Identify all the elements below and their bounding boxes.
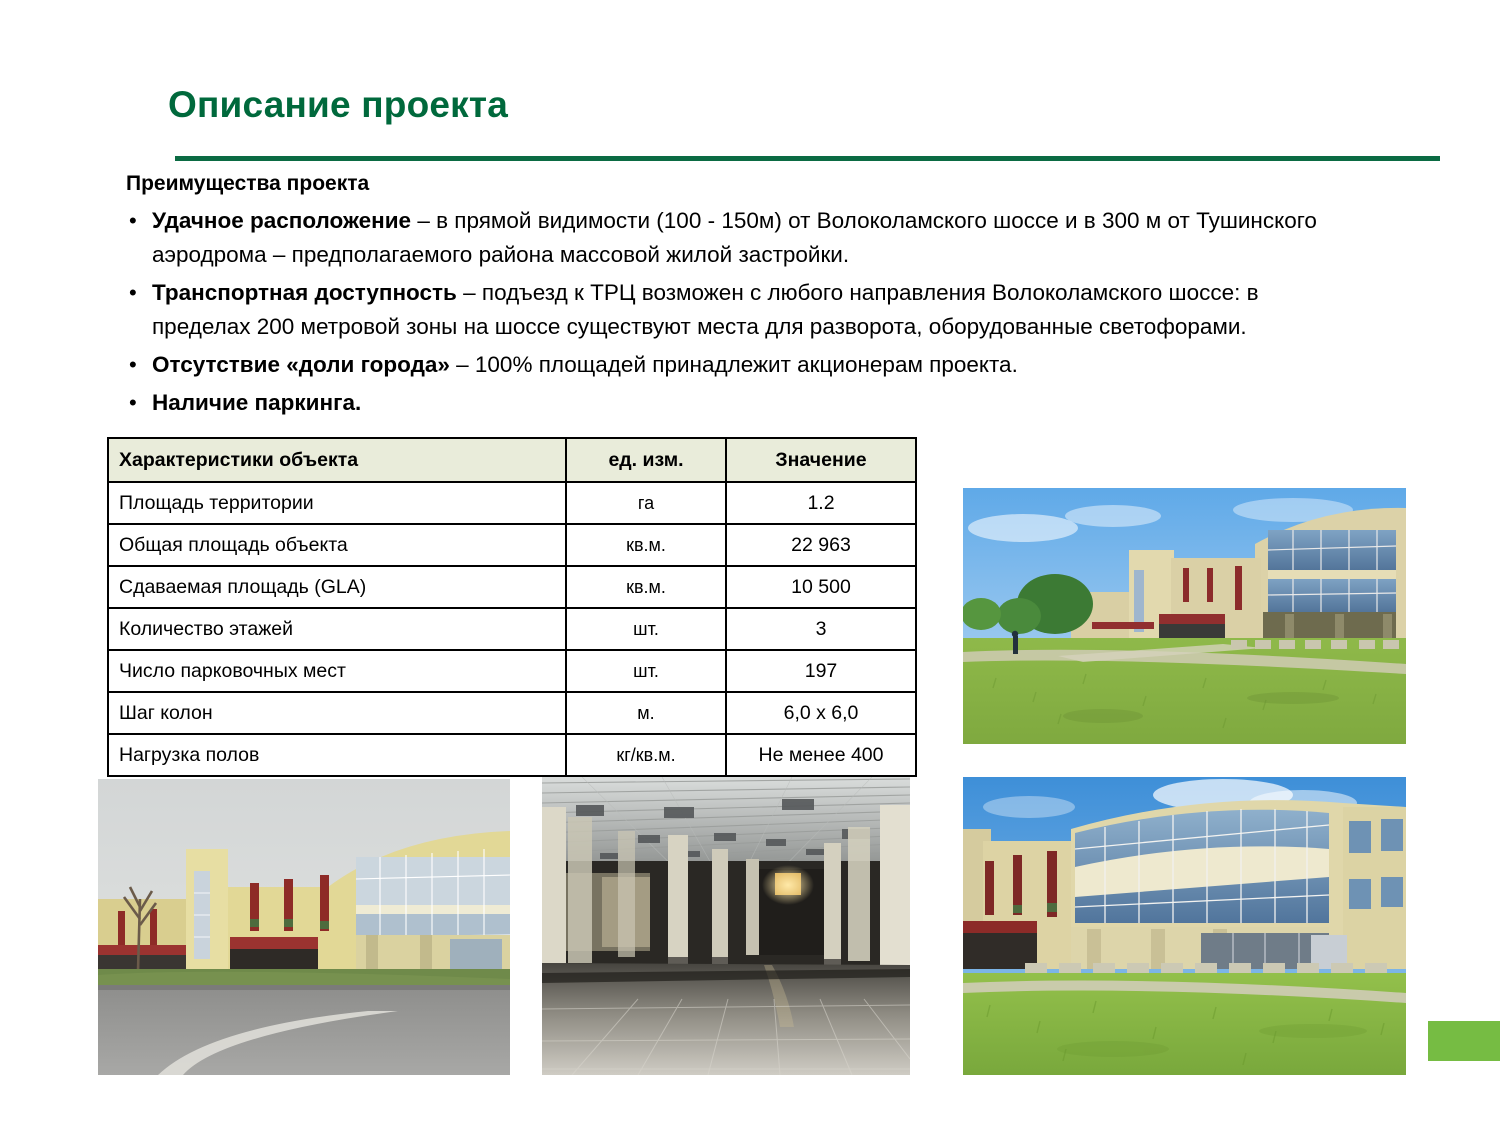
- list-item-text: Транспортная доступность – подъезд к ТРЦ…: [152, 276, 1341, 344]
- bullet-marker-icon: •: [126, 276, 152, 310]
- list-item: • Наличие паркинга.: [126, 386, 1341, 420]
- photo-interior-hall: [542, 777, 910, 1075]
- column-header-value: Значение: [726, 438, 916, 482]
- bullet-marker-icon: •: [126, 204, 152, 238]
- cell-value: 1.2: [726, 482, 916, 524]
- cell-value: 6,0 х 6,0: [726, 692, 916, 734]
- list-item-label: Наличие паркинга.: [152, 390, 361, 415]
- list-item-text: Наличие паркинга.: [152, 386, 1341, 420]
- advantages-list: • Удачное расположение – в прямой видимо…: [126, 204, 1341, 424]
- cell-name: Площадь территории: [108, 482, 566, 524]
- table-row: Шаг колон м. 6,0 х 6,0: [108, 692, 916, 734]
- photo-exterior-bottom-right: [963, 777, 1406, 1075]
- cell-value: 10 500: [726, 566, 916, 608]
- table-row: Общая площадь объекта кв.м. 22 963: [108, 524, 916, 566]
- list-item: • Удачное расположение – в прямой видимо…: [126, 204, 1341, 272]
- cell-unit: шт.: [566, 650, 726, 692]
- cell-name: Сдаваемая площадь (GLA): [108, 566, 566, 608]
- object-specifications-table: Характеристики объекта ед. изм. Значение…: [107, 437, 917, 777]
- cell-name: Нагрузка полов: [108, 734, 566, 776]
- list-item-body: – 100% площадей принадлежит акционерам п…: [450, 352, 1018, 377]
- bullet-marker-icon: •: [126, 386, 152, 420]
- table-header-row: Характеристики объекта ед. изм. Значение: [108, 438, 916, 482]
- cell-name: Количество этажей: [108, 608, 566, 650]
- cell-value: 197: [726, 650, 916, 692]
- list-item: • Отсутствие «доли города» – 100% площад…: [126, 348, 1341, 382]
- cell-value: 3: [726, 608, 916, 650]
- bullet-marker-icon: •: [126, 348, 152, 382]
- cell-name: Шаг колон: [108, 692, 566, 734]
- column-header-unit: ед. изм.: [566, 438, 726, 482]
- corner-accent-block: [1428, 1021, 1500, 1061]
- table-row: Количество этажей шт. 3: [108, 608, 916, 650]
- cell-name: Общая площадь объекта: [108, 524, 566, 566]
- list-item-label: Отсутствие «доли города»: [152, 352, 450, 377]
- cell-unit: кв.м.: [566, 566, 726, 608]
- cell-unit: м.: [566, 692, 726, 734]
- table-row: Площадь территории га 1.2: [108, 482, 916, 524]
- table-row: Нагрузка полов кг/кв.м. Не менее 400: [108, 734, 916, 776]
- page-title: Описание проекта: [168, 84, 508, 126]
- list-item-label: Транспортная доступность: [152, 280, 457, 305]
- cell-value: 22 963: [726, 524, 916, 566]
- title-divider: [175, 156, 1440, 161]
- cell-unit: кв.м.: [566, 524, 726, 566]
- cell-unit: шт.: [566, 608, 726, 650]
- cell-value: Не менее 400: [726, 734, 916, 776]
- column-header-name: Характеристики объекта: [108, 438, 566, 482]
- photo-exterior-top-right: [963, 488, 1406, 744]
- list-item-label: Удачное расположение: [152, 208, 411, 233]
- table-row: Число парковочных мест шт. 197: [108, 650, 916, 692]
- cell-name: Число парковочных мест: [108, 650, 566, 692]
- table-row: Сдаваемая площадь (GLA) кв.м. 10 500: [108, 566, 916, 608]
- list-item-text: Удачное расположение – в прямой видимост…: [152, 204, 1341, 272]
- photo-exterior-bottom-left: [98, 779, 510, 1075]
- cell-unit: га: [566, 482, 726, 524]
- list-item: • Транспортная доступность – подъезд к Т…: [126, 276, 1341, 344]
- list-item-text: Отсутствие «доли города» – 100% площадей…: [152, 348, 1341, 382]
- section-subheading: Преимущества проекта: [126, 172, 369, 196]
- cell-unit: кг/кв.м.: [566, 734, 726, 776]
